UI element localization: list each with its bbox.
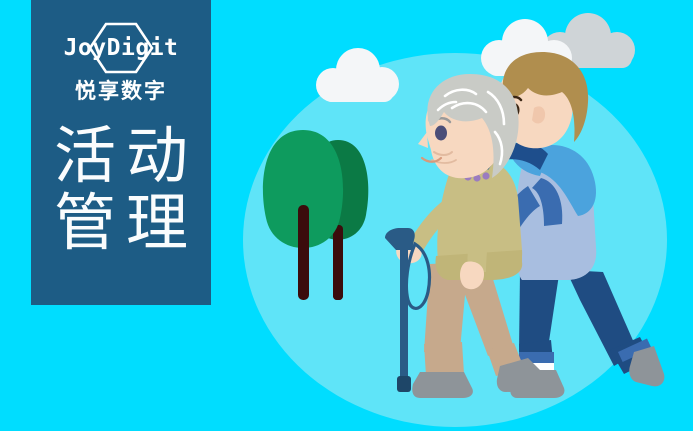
title-panel: JoyDigit 悦享数字 活动 管理 <box>31 0 211 305</box>
page-title-line-1: 活动 <box>44 124 198 191</box>
elderly-woman-front-shoe <box>412 372 473 398</box>
page-title: 活动 管理 <box>44 124 198 258</box>
page-title-line-2: 管理 <box>44 191 198 258</box>
logo-wordmark: JoyDigit <box>64 37 179 60</box>
cloud-left <box>316 48 399 102</box>
logo-mark: JoyDigit <box>46 22 196 74</box>
activity-management-banner: JoyDigit 悦享数字 活动 管理 <box>0 0 693 431</box>
elderly-woman-eye <box>435 126 447 141</box>
logo-subtitle: 悦享数字 <box>75 81 167 102</box>
brand-logo: JoyDigit 悦享数字 <box>46 22 196 114</box>
young-man-back-shoe <box>629 346 664 386</box>
